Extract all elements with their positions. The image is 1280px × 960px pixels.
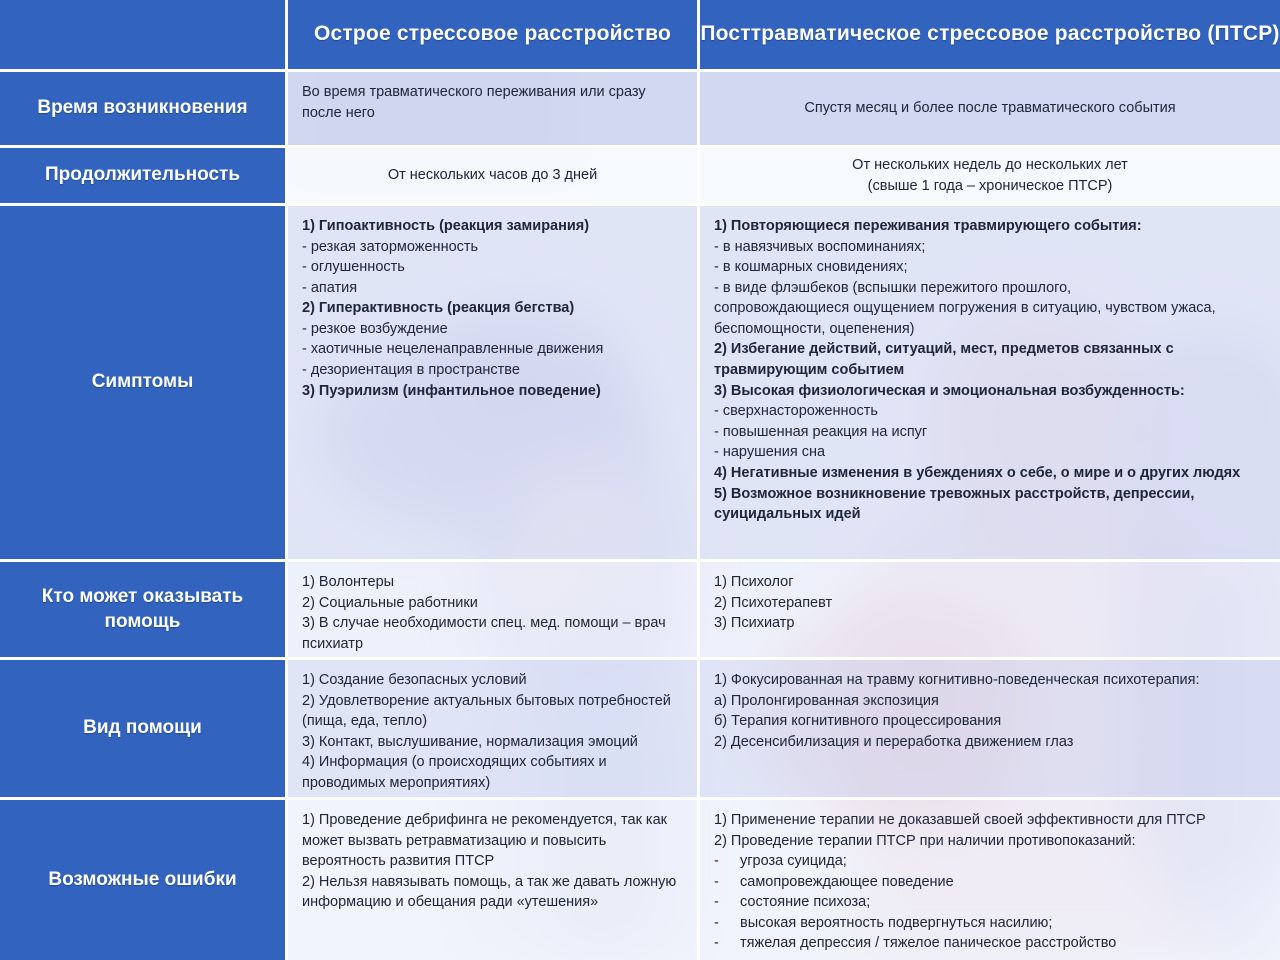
bullet-text: состояние психоза; (740, 892, 870, 913)
list-item: - в кошмарных сновидениях; (714, 257, 1266, 278)
bullet-dash: - (714, 851, 740, 872)
list-item: 1) Волонтеры (302, 572, 683, 593)
list-item: - самопровеждающее поведение (714, 872, 1266, 893)
cell-duration-ptsd-line1: От нескольких недель до нескольких лет (852, 155, 1128, 176)
list-item: 2) Удовлетворение актуальных бытовых пот… (302, 691, 683, 732)
list-item: 2) Психотерапевт (714, 593, 1266, 614)
list-item: - резкая заторможенность (302, 237, 683, 258)
list-item: сопровождающиеся ощущением погружения в … (714, 298, 1266, 339)
list-item: - повышенная реакция на испуг (714, 422, 1266, 443)
cell-duration-asd-text: От нескольких часов до 3 дней (388, 165, 597, 186)
bullet-text: самопровеждающее поведение (740, 872, 954, 893)
cell-duration-ptsd: От нескольких недель до нескольких лет (… (700, 148, 1280, 206)
list-item: - тяжелая депрессия / тяжелое паническое… (714, 933, 1266, 954)
bullet-dash: - (714, 892, 740, 913)
list-item: 3) Контакт, выслушивание, нормализация э… (302, 732, 683, 753)
row-label-duration-text: Продолжительность (45, 163, 240, 188)
list-item: 4) Негативные изменения в убеждениях о с… (714, 463, 1266, 484)
list-item: 2) Нельзя навязывать помощь, а так же да… (302, 872, 683, 913)
errors-ptsd-list: 1) Применение терапии не доказавшей свое… (714, 810, 1266, 954)
list-item: - резкое возбуждение (302, 319, 683, 340)
cell-errors-asd: 1) Проведение дебрифинга не рекомендуетс… (288, 800, 700, 960)
cell-aid-type-ptsd: 1) Фокусированная на травму когнитивно-п… (700, 660, 1280, 800)
list-item: - состояние психоза; (714, 892, 1266, 913)
cell-providers-ptsd: 1) Психолог 2) Психотерапевт 3) Психиатр (700, 562, 1280, 660)
symptoms-ptsd-list: 1) Повторяющиеся переживания травмирующе… (714, 216, 1266, 525)
column-header-acute-stress-disorder: Острое стрессовое расстройство (288, 0, 700, 72)
cell-symptoms-asd: 1) Гипоактивность (реакция замирания) - … (288, 206, 700, 562)
list-item: - оглушенность (302, 257, 683, 278)
list-item: 3) В случае необходимости спец. мед. пом… (302, 613, 683, 654)
row-label-who-line1: Кто может (42, 586, 138, 607)
cell-onset-ptsd: Спустя месяц и более после травматическо… (700, 72, 1280, 148)
list-item: 1) Повторяющиеся переживания травмирующе… (714, 216, 1266, 237)
cell-onset-asd-text: Во время травматического переживания или… (302, 84, 646, 121)
column-header-asd-line1: Острое стрессовое (314, 22, 518, 45)
list-item: а) Пролонгированная экспозиция (714, 691, 1266, 712)
row-label-who-can-help: Кто может оказывать помощь (0, 562, 288, 660)
row-label-onset-time: Время возникновения (0, 72, 288, 148)
bullet-dash: - (714, 933, 740, 954)
list-item: - апатия (302, 278, 683, 299)
list-item: - нарушения сна (714, 442, 1266, 463)
list-item: - дезориентация в пространстве (302, 360, 683, 381)
providers-ptsd-list: 1) Психолог 2) Психотерапевт 3) Психиатр (714, 572, 1266, 634)
list-item: 3) Высокая физиологическая и эмоциональн… (714, 381, 1266, 402)
comparison-table: Острое стрессовое расстройство Посттравм… (0, 0, 1280, 960)
list-item: - в виде флэшбеков (вспышки пережитого п… (714, 278, 1266, 299)
list-item: - в навязчивых воспоминаниях; (714, 237, 1266, 258)
list-item: - высокая вероятность подвергнуться наси… (714, 913, 1266, 934)
bullet-text: тяжелая депрессия / тяжелое паническое р… (740, 933, 1116, 954)
list-item: - угроза суицида; (714, 851, 1266, 872)
column-header-ptsd-line2: расстройство (ПТСР) (1055, 22, 1280, 45)
list-item: 1) Гипоактивность (реакция замирания) (302, 216, 683, 237)
bullet-text: высокая вероятность подвергнуться насили… (740, 913, 1052, 934)
cell-onset-asd: Во время травматического переживания или… (288, 72, 700, 148)
list-item: 1) Проведение дебрифинга не рекомендуетс… (302, 810, 683, 872)
cell-providers-asd: 1) Волонтеры 2) Социальные работники 3) … (288, 562, 700, 660)
row-label-duration: Продолжительность (0, 148, 288, 206)
cell-symptoms-ptsd: 1) Повторяющиеся переживания травмирующе… (700, 206, 1280, 562)
cell-duration-ptsd-line2: (свыше 1 года – хроническое ПТСР) (868, 176, 1113, 197)
bullet-text: угроза суицида; (740, 851, 847, 872)
row-label-symptoms-text: Симптомы (92, 370, 194, 395)
column-header-ptsd-line1: Посттравматическое стрессовое (700, 22, 1048, 45)
cell-errors-ptsd: 1) Применение терапии не доказавшей свое… (700, 800, 1280, 960)
list-item: 3) Пуэрилизм (инфантильное поведение) (302, 381, 683, 402)
list-item: 2) Проведение терапии ПТСР при наличии п… (714, 831, 1266, 852)
comparison-table-page: Острое стрессовое расстройство Посттравм… (0, 0, 1280, 960)
row-label-onset-line1: Время (37, 97, 98, 118)
list-item: 2) Гиперактивность (реакция бегства) (302, 298, 683, 319)
bullet-dash: - (714, 913, 740, 934)
list-item: - сверхнастороженность (714, 401, 1266, 422)
aid-type-ptsd-list: 1) Фокусированная на травму когнитивно-п… (714, 670, 1266, 752)
list-item: 1) Применение терапии не доказавшей свое… (714, 810, 1266, 831)
list-item: 3) Психиатр (714, 613, 1266, 634)
table-corner-cell (0, 0, 288, 72)
bullet-dash: - (714, 872, 740, 893)
row-label-aid-type-text: Вид помощи (83, 716, 202, 741)
row-label-possible-errors: Возможные ошибки (0, 800, 288, 960)
list-item: 4) Информация (о происходящих событиях и… (302, 752, 683, 793)
list-item: 2) Избегание действий, ситуаций, мест, п… (714, 339, 1266, 380)
list-item: 1) Фокусированная на травму когнитивно-п… (714, 670, 1266, 691)
symptoms-asd-list: 1) Гипоактивность (реакция замирания) - … (302, 216, 683, 401)
list-item: - хаотичные нецеленаправленные движения (302, 339, 683, 360)
cell-duration-asd: От нескольких часов до 3 дней (288, 148, 700, 206)
row-label-symptoms: Симптомы (0, 206, 288, 562)
list-item: 2) Десенсибилизация и переработка движен… (714, 732, 1266, 753)
row-label-onset-line2: возникновения (103, 97, 247, 118)
cell-aid-type-asd: 1) Создание безопасных условий 2) Удовле… (288, 660, 700, 800)
list-item: 1) Создание безопасных условий (302, 670, 683, 691)
aid-type-asd-list: 1) Создание безопасных условий 2) Удовле… (302, 670, 683, 793)
list-item: б) Терапия когнитивного процессирования (714, 711, 1266, 732)
row-label-aid-type: Вид помощи (0, 660, 288, 800)
row-label-possible-errors-text: Возможные ошибки (48, 868, 236, 893)
providers-asd-list: 1) Волонтеры 2) Социальные работники 3) … (302, 572, 683, 654)
errors-asd-list: 1) Проведение дебрифинга не рекомендуетс… (302, 810, 683, 913)
list-item: 2) Социальные работники (302, 593, 683, 614)
cell-onset-ptsd-text: Спустя месяц и более после травматическо… (804, 98, 1175, 119)
list-item: 5) Возможное возникновение тревожных рас… (714, 484, 1266, 525)
column-header-ptsd: Посттравматическое стрессовое расстройст… (700, 0, 1280, 72)
list-item: 1) Психолог (714, 572, 1266, 593)
column-header-asd-line2: расстройство (524, 22, 671, 45)
